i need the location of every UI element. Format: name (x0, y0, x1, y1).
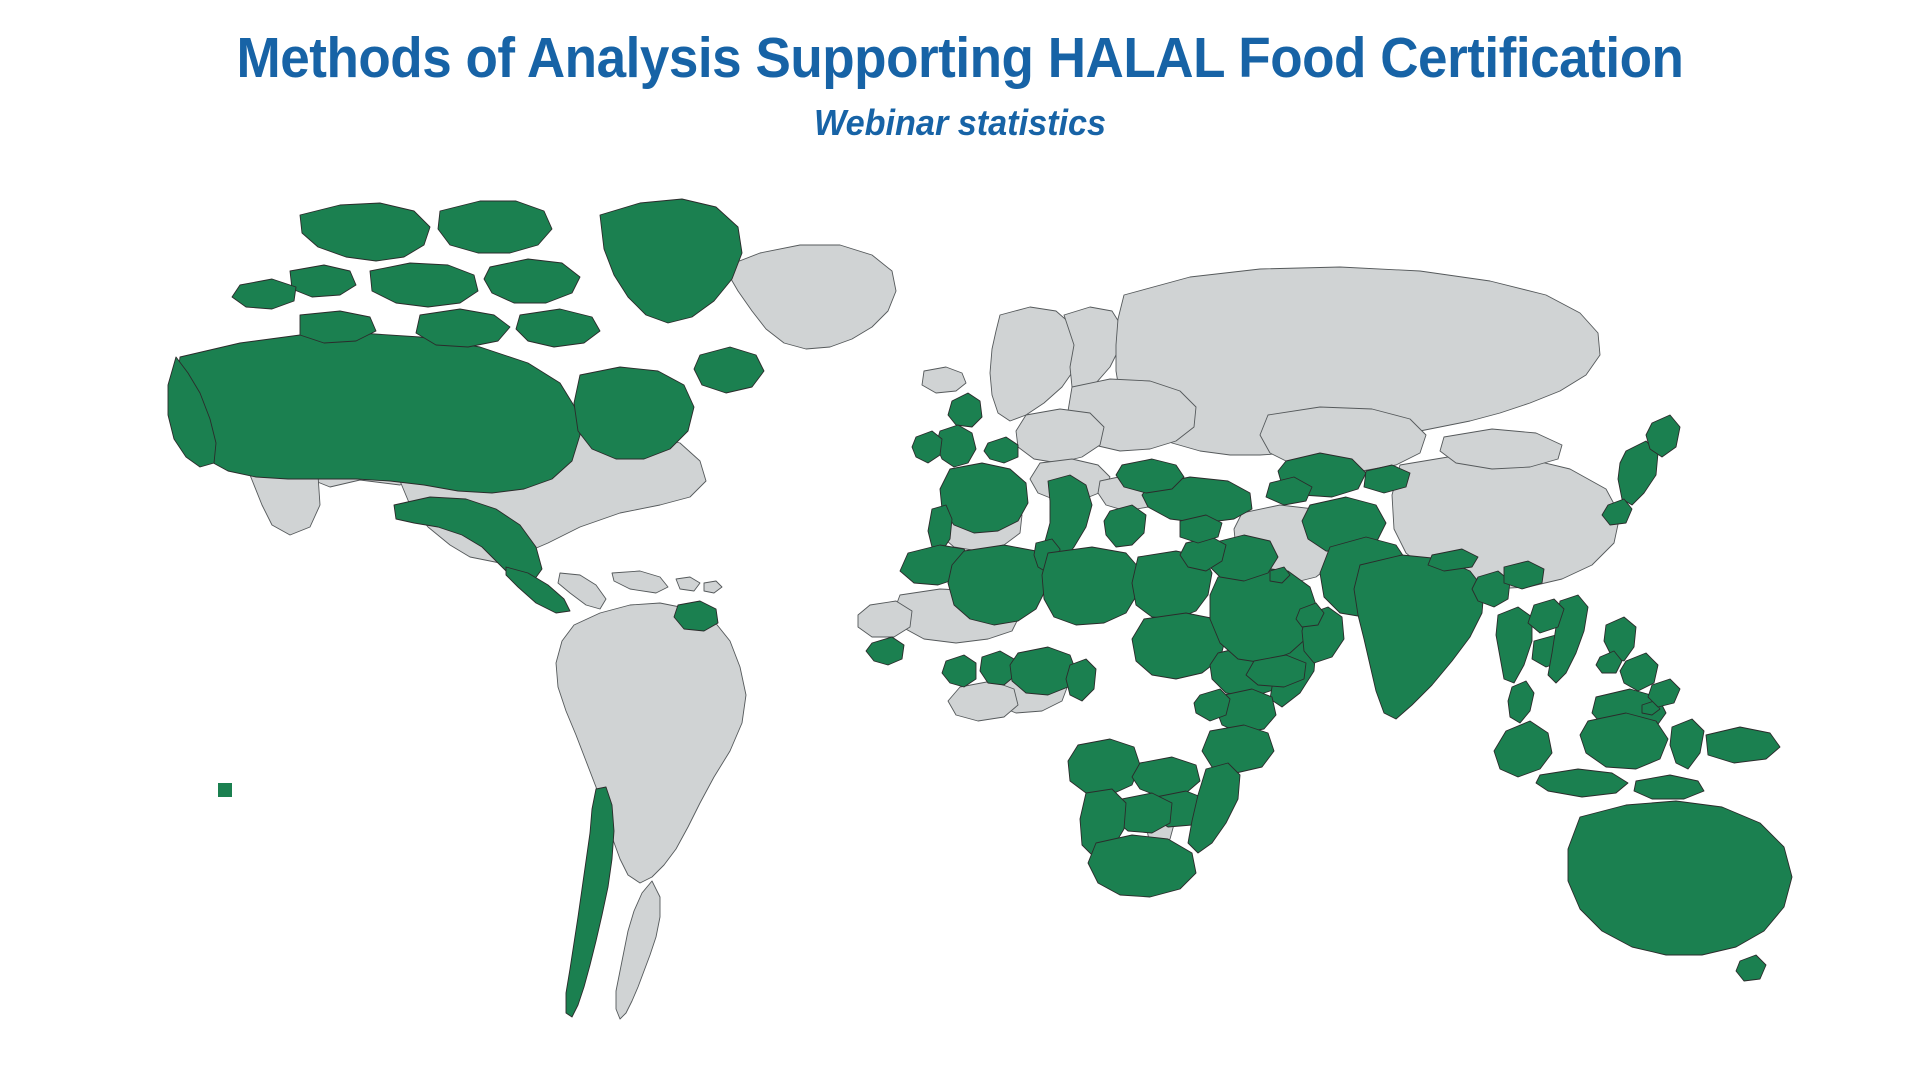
page-subtitle: Webinar statistics (48, 87, 1872, 141)
world-map: .g { fill: #1b8050; stroke: #2b2b2b; str… (0, 175, 1920, 1075)
slide-root: Methods of Analysis Supporting HALAL Foo… (0, 0, 1920, 1080)
page-title: Methods of Analysis Supporting HALAL Foo… (67, 30, 1853, 87)
world-map-svg: .g { fill: #1b8050; stroke: #2b2b2b; str… (0, 175, 1920, 1075)
slide-header: Methods of Analysis Supporting HALAL Foo… (0, 0, 1920, 141)
square-marker-icon (218, 783, 232, 797)
